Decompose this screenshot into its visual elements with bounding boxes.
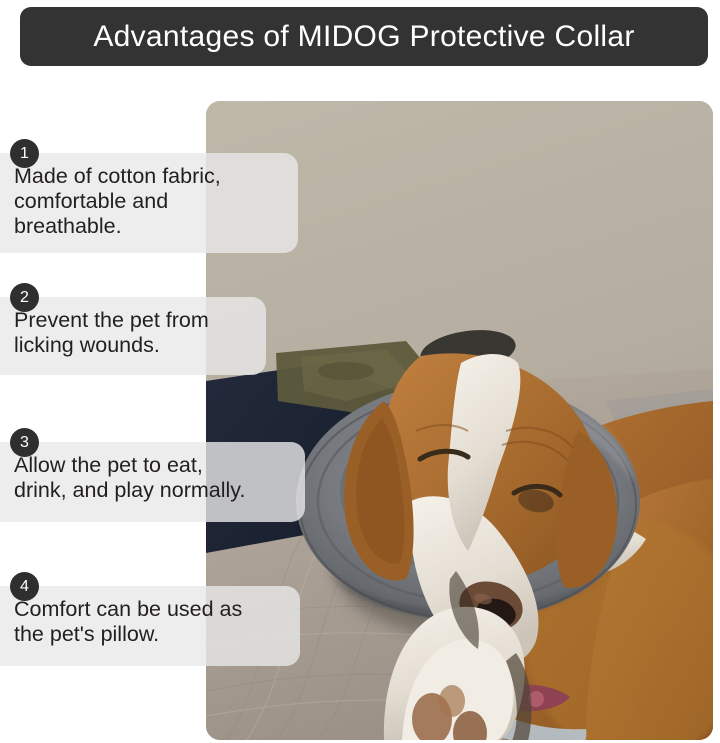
feature-text-box-4: Comfort can be used as the pet's pillow. [0, 586, 300, 666]
feature-text-box-2: Prevent the pet from licking wounds. [0, 297, 266, 375]
feature-label-2: Prevent the pet from licking wounds. [14, 308, 252, 358]
feature-badge-2: 2 [10, 283, 39, 312]
feature-text-box-1: Made of cotton fabric, comfortable and b… [0, 153, 298, 253]
feature-text-box-3: Allow the pet to eat, drink, and play no… [0, 442, 305, 522]
infographic-canvas: Advantages of MIDOG Protective Collar [0, 0, 720, 743]
title-banner: Advantages of MIDOG Protective Collar [20, 7, 708, 66]
feature-badge-number-3: 3 [20, 435, 29, 451]
feature-badge-1: 1 [10, 139, 39, 168]
page-title: Advantages of MIDOG Protective Collar [93, 20, 634, 54]
feature-badge-number-4: 4 [20, 579, 29, 595]
feature-label-1: Made of cotton fabric, comfortable and b… [14, 164, 284, 239]
feature-label-3: Allow the pet to eat, drink, and play no… [14, 453, 291, 503]
feature-badge-number-2: 2 [20, 290, 29, 306]
feature-badge-number-1: 1 [20, 146, 29, 162]
feature-badge-4: 4 [10, 572, 39, 601]
feature-badge-3: 3 [10, 428, 39, 457]
feature-label-4: Comfort can be used as the pet's pillow. [14, 597, 286, 647]
